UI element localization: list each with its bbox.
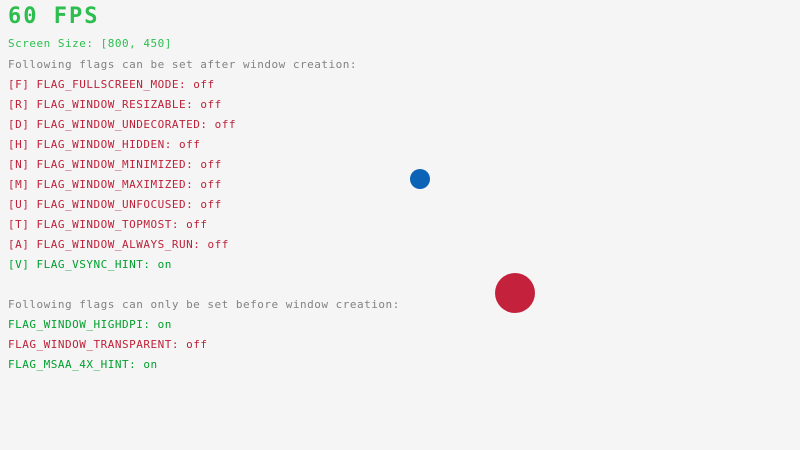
flag-name: FLAG_MSAA_4X_HINT: bbox=[8, 358, 143, 371]
flag-value: off bbox=[200, 198, 221, 211]
large-red-ball bbox=[495, 273, 535, 313]
flag-row[interactable]: [R] FLAG_WINDOW_RESIZABLE: off bbox=[8, 99, 222, 110]
small-blue-ball bbox=[410, 169, 430, 189]
screen-size-label: Screen Size: [800, 450] bbox=[8, 38, 172, 49]
flag-shortcut-key: [U] bbox=[8, 198, 37, 211]
flag-name: FLAG_WINDOW_HIGHDPI: bbox=[8, 318, 158, 331]
flag-row: FLAG_WINDOW_TRANSPARENT: off bbox=[8, 339, 207, 350]
flag-row[interactable]: [H] FLAG_WINDOW_HIDDEN: off bbox=[8, 139, 200, 150]
flag-name: FLAG_WINDOW_HIDDEN: bbox=[37, 138, 179, 151]
flag-row[interactable]: [V] FLAG_VSYNC_HINT: on bbox=[8, 259, 172, 270]
flag-value: off bbox=[186, 338, 207, 351]
flag-value: on bbox=[158, 318, 172, 331]
flag-name: FLAG_WINDOW_TRANSPARENT: bbox=[8, 338, 186, 351]
flag-value: off bbox=[215, 118, 236, 131]
flag-row: FLAG_MSAA_4X_HINT: on bbox=[8, 359, 158, 370]
flag-shortcut-key: [H] bbox=[8, 138, 37, 151]
flag-row[interactable]: [N] FLAG_WINDOW_MINIMIZED: off bbox=[8, 159, 222, 170]
flag-row[interactable]: [D] FLAG_WINDOW_UNDECORATED: off bbox=[8, 119, 236, 130]
fps-counter: 60 FPS bbox=[8, 6, 99, 28]
flag-name: FLAG_FULLSCREEN_MODE: bbox=[37, 78, 194, 91]
flag-value: off bbox=[193, 78, 214, 91]
flag-value: off bbox=[200, 158, 221, 171]
flag-name: FLAG_WINDOW_RESIZABLE: bbox=[37, 98, 201, 111]
flag-shortcut-key: [R] bbox=[8, 98, 37, 111]
flag-value: off bbox=[200, 98, 221, 111]
flag-shortcut-key: [A] bbox=[8, 238, 37, 251]
flag-name: FLAG_WINDOW_UNDECORATED: bbox=[37, 118, 215, 131]
flag-row[interactable]: [M] FLAG_WINDOW_MAXIMIZED: off bbox=[8, 179, 222, 190]
before-creation-section-header: Following flags can only be set before w… bbox=[8, 299, 400, 310]
flag-name: FLAG_WINDOW_ALWAYS_RUN: bbox=[37, 238, 208, 251]
flag-name: FLAG_VSYNC_HINT: bbox=[37, 258, 158, 271]
flag-name: FLAG_WINDOW_TOPMOST: bbox=[37, 218, 187, 231]
flag-row[interactable]: [A] FLAG_WINDOW_ALWAYS_RUN: off bbox=[8, 239, 229, 250]
flag-row[interactable]: [T] FLAG_WINDOW_TOPMOST: off bbox=[8, 219, 207, 230]
flag-shortcut-key: [T] bbox=[8, 218, 37, 231]
flag-value: off bbox=[200, 178, 221, 191]
flag-shortcut-key: [M] bbox=[8, 178, 37, 191]
after-creation-section-header: Following flags can be set after window … bbox=[8, 59, 357, 70]
raylib-window-canvas: 60 FPS Screen Size: [800, 450] Following… bbox=[0, 0, 800, 450]
flag-name: FLAG_WINDOW_UNFOCUSED: bbox=[37, 198, 201, 211]
flag-row[interactable]: [U] FLAG_WINDOW_UNFOCUSED: off bbox=[8, 199, 222, 210]
flag-value: on bbox=[158, 258, 172, 271]
flag-shortcut-key: [F] bbox=[8, 78, 37, 91]
flag-shortcut-key: [D] bbox=[8, 118, 37, 131]
flag-value: off bbox=[186, 218, 207, 231]
flag-value: on bbox=[143, 358, 157, 371]
flag-shortcut-key: [V] bbox=[8, 258, 37, 271]
flag-shortcut-key: [N] bbox=[8, 158, 37, 171]
flag-row[interactable]: [F] FLAG_FULLSCREEN_MODE: off bbox=[8, 79, 215, 90]
flag-row: FLAG_WINDOW_HIGHDPI: on bbox=[8, 319, 172, 330]
flag-value: off bbox=[179, 138, 200, 151]
flag-value: off bbox=[207, 238, 228, 251]
flag-name: FLAG_WINDOW_MAXIMIZED: bbox=[37, 178, 201, 191]
flag-name: FLAG_WINDOW_MINIMIZED: bbox=[37, 158, 201, 171]
